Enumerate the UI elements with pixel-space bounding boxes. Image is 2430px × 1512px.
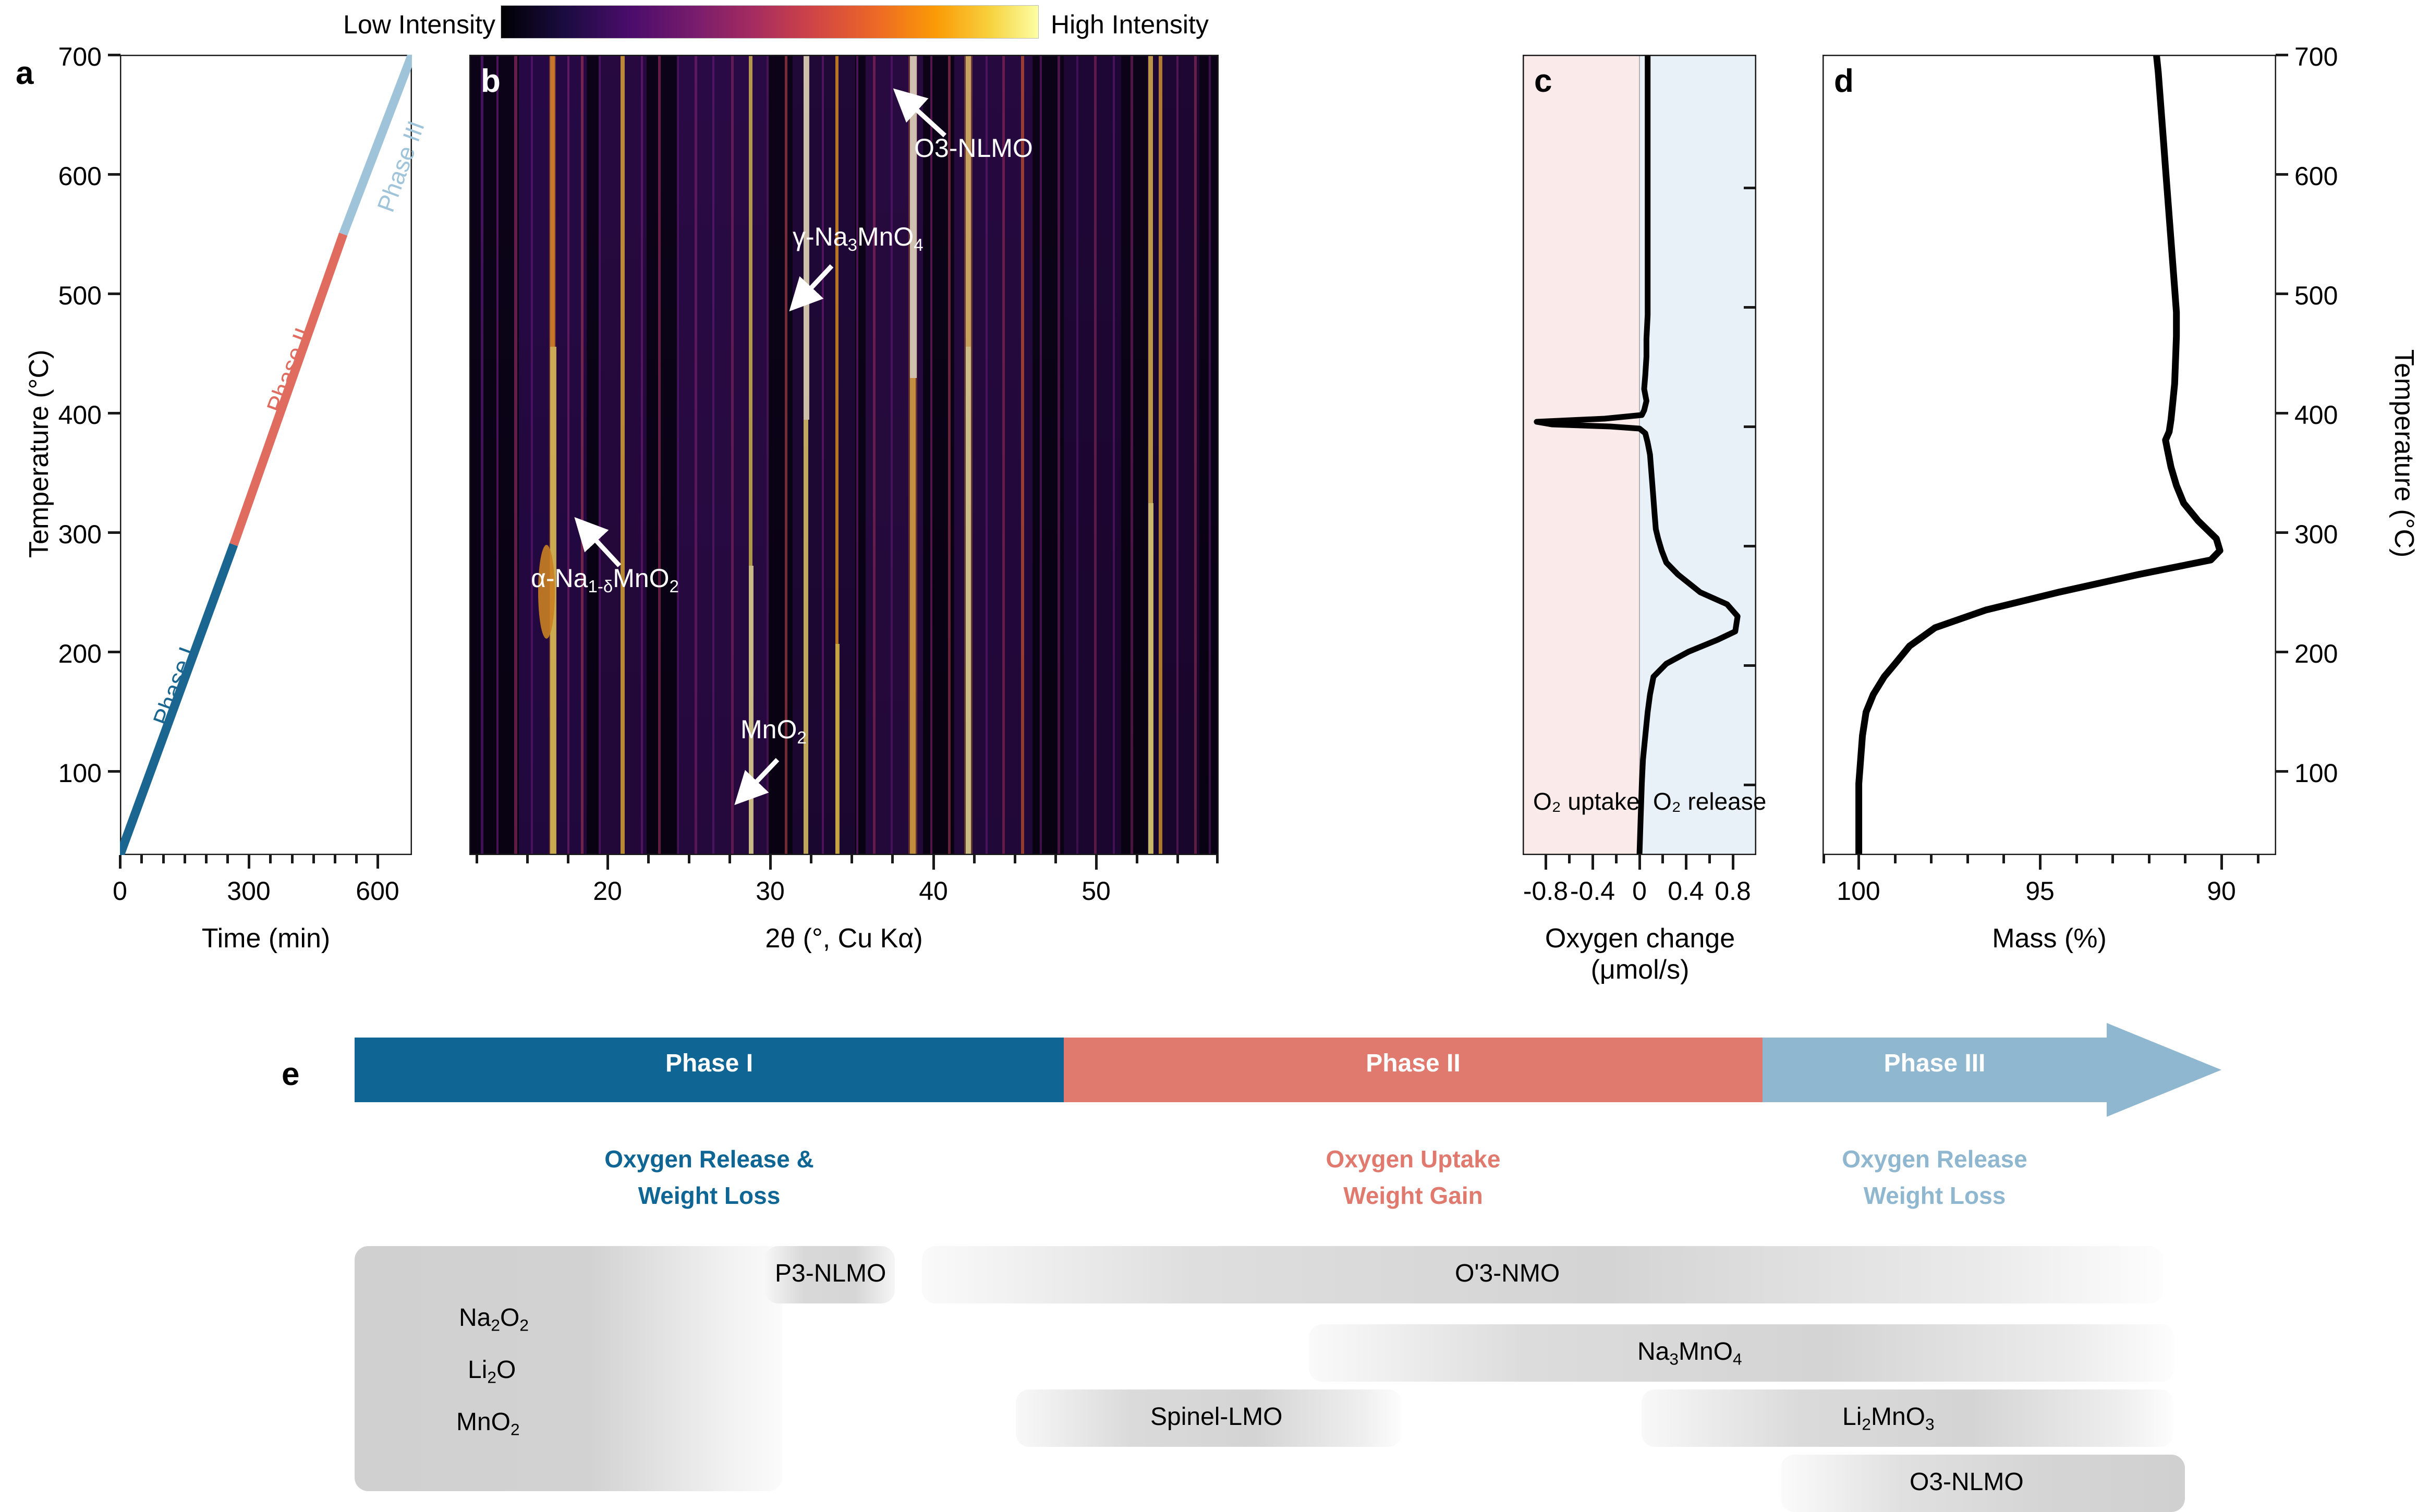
- panel-b-arrow-alpha-nadmno2: [568, 514, 631, 571]
- ytick-label-700: 700: [31, 42, 102, 72]
- b-xtick-minor-h: [850, 855, 853, 863]
- d-ytick-600: [2276, 173, 2288, 176]
- panel-d: d 100 95 90 Mass (%) 700 600 500 400 300…: [1822, 42, 2430, 980]
- panel-b-arrow-mno2: [727, 753, 790, 811]
- b-xtick-minor-n: [1176, 855, 1179, 863]
- compound-label-na2o2: Na2O2: [459, 1303, 529, 1335]
- d-xtick-minor-2: [1930, 855, 1933, 863]
- d-ytick-500: [2276, 292, 2288, 295]
- c-xtick-label-08: 0.8: [1694, 876, 1772, 906]
- b-xtick-minor-a: [476, 855, 478, 863]
- compound-label-p3nlmo: P3-NLMO: [775, 1259, 886, 1288]
- d-xtick-95: [2039, 855, 2042, 870]
- d-ytick-label-300: 300: [2294, 519, 2373, 550]
- compound-label-li2mno3: Li2MnO3: [1842, 1403, 1935, 1434]
- b-xtick-50: [1095, 855, 1098, 870]
- b-xtick-minor-f: [728, 855, 731, 863]
- ytick-700: [108, 54, 120, 56]
- d-xtick-label-100: 100: [1819, 876, 1898, 906]
- xtick-minor-10: [355, 855, 358, 863]
- compound-label-o3nmo: O'3-NMO: [1455, 1259, 1560, 1288]
- b-xtick-label-40: 40: [894, 876, 973, 906]
- ytick-300: [108, 531, 120, 534]
- panel-d-right-ylabel: Temperature (°C): [2388, 292, 2420, 615]
- phase-desc-iii-line1: Oxygen Release: [1763, 1144, 2107, 1175]
- panel-b: b O3-NLMO γ-Na3MnO4 α-Na1-δMnO2 MnO2: [469, 42, 1252, 980]
- compound-label-o3nlmo: O3-NLMO: [1910, 1468, 2024, 1496]
- d-ytick-200: [2276, 651, 2288, 653]
- d-xtick-minor-6: [2111, 855, 2114, 863]
- d-ytick-400: [2276, 412, 2288, 414]
- panel-d-letter: d: [1834, 65, 1854, 97]
- b-xtick-20: [606, 855, 609, 870]
- panel-b-letter: b: [481, 65, 501, 97]
- phase-label-iii: Phase III: [1763, 1049, 2107, 1078]
- colorbar-group: Low Intensity High Intensity: [501, 5, 1231, 47]
- panel-b-arrow-gamma-na3mno4: [782, 261, 845, 318]
- xtick-0: [119, 855, 121, 869]
- compound-label-mno2: MnO2: [456, 1408, 520, 1440]
- ytick-label-200: 200: [31, 639, 102, 669]
- b-xtick-minor-d: [647, 855, 650, 863]
- c-xtick-minor-c: [1661, 855, 1664, 863]
- xtick-minor-5: [226, 855, 229, 863]
- d-xtick-minor-1: [1894, 855, 1897, 863]
- d-ytick-label-200: 200: [2294, 639, 2373, 669]
- compound-label-li2o: Li2O: [468, 1356, 516, 1387]
- c-xtick-08: [1732, 855, 1734, 870]
- b-xtick-minor-c: [567, 855, 569, 863]
- panel-b-xlabel: 2θ (°, Cu Kα): [469, 923, 1219, 954]
- xtick-minor-8: [312, 855, 315, 863]
- d-xtick-minor-3: [1966, 855, 1969, 863]
- xtick-minor-2: [162, 855, 165, 863]
- d-xtick-minor-5: [2075, 855, 2078, 863]
- d-ytick-label-500: 500: [2294, 281, 2373, 311]
- panel-a-ylabel: Temperature (°C): [23, 292, 55, 615]
- panel-a-plot-area: [120, 55, 412, 855]
- d-ytick-700: [2276, 54, 2288, 56]
- d-xtick-minor-7: [2148, 855, 2150, 863]
- b-xtick-40: [932, 855, 935, 870]
- b-xtick-minor-i: [891, 855, 894, 863]
- panel-b-annotation-mno2: MnO2: [740, 714, 807, 748]
- panel-c: c O₂ uptake O₂ release -0.8 -0.4 0 0.4 0…: [1523, 42, 1794, 980]
- b-xtick-minor-m: [1136, 855, 1138, 863]
- panel-c-plot-area: [1523, 55, 1756, 855]
- b-xtick-minor-b: [526, 855, 529, 863]
- d-ytick-label-400: 400: [2294, 400, 2373, 430]
- c-ytick-r6: [1744, 784, 1756, 786]
- d-xtick-label-90: 90: [2182, 876, 2261, 906]
- panel-b-arrow-o3nlmo: [886, 83, 949, 141]
- xtick-label-300: 300: [210, 876, 288, 906]
- xtick-minor-7: [291, 855, 294, 863]
- panel-c-release-label: O₂ release: [1653, 787, 1766, 815]
- xtick-label-0: 0: [81, 876, 159, 906]
- d-xtick-100: [1857, 855, 1860, 870]
- ytick-200: [108, 651, 120, 653]
- phase-desc-ii-line2: Weight Gain: [1064, 1181, 1763, 1211]
- d-xtick-minor-0: [1822, 855, 1825, 863]
- d-ytick-100: [2276, 770, 2288, 773]
- b-xtick-minor-j: [973, 855, 976, 863]
- c-xtick-minor-d: [1708, 855, 1711, 863]
- d-xtick-90: [2220, 855, 2223, 870]
- b-xtick-minor-k: [1014, 855, 1016, 863]
- c-ytick-r5: [1744, 664, 1756, 667]
- colorbar-low-label: Low Intensity: [313, 9, 495, 40]
- c-xtick-minor-a: [1568, 855, 1571, 863]
- b-xtick-minor-l: [1054, 855, 1057, 863]
- panel-b-heatmap: [469, 55, 1219, 855]
- d-ytick-label-700: 700: [2294, 42, 2373, 72]
- c-xtick-04: [1685, 855, 1687, 870]
- c-ytick-r4: [1744, 545, 1756, 547]
- phase-desc-ii-line1: Oxygen Uptake: [1064, 1144, 1763, 1175]
- c-ytick-r1: [1744, 187, 1756, 189]
- d-xtick-label-95: 95: [2001, 876, 2079, 906]
- colorbar-high-label: High Intensity: [1051, 9, 1285, 40]
- ytick-label-100: 100: [31, 758, 102, 788]
- phase-desc-i-line2: Weight Loss: [355, 1181, 1064, 1211]
- panel-d-plot-area: [1822, 55, 2276, 855]
- panel-d-xlabel: Mass (%): [1822, 923, 2276, 954]
- colorbar-gradient: [501, 5, 1039, 39]
- c-xtick-n04: [1591, 855, 1594, 870]
- b-xtick-minor-o: [1216, 855, 1219, 863]
- c-ytick-r2: [1744, 306, 1756, 309]
- d-ytick-label-100: 100: [2294, 758, 2373, 788]
- panel-c-xlabel: Oxygen change (μmol/s): [1502, 923, 1778, 985]
- c-ytick-r3: [1744, 425, 1756, 428]
- compound-label-na3mno4: Na3MnO4: [1637, 1337, 1742, 1369]
- compound-label-spinellmo: Spinel-LMO: [1150, 1403, 1282, 1431]
- xtick-label-600: 600: [338, 876, 417, 906]
- d-xtick-minor-9: [2257, 855, 2259, 863]
- d-ytick-label-600: 600: [2294, 161, 2373, 191]
- xtick-minor-4: [205, 855, 208, 863]
- ytick-400: [108, 412, 120, 414]
- phase-label-i: Phase I: [355, 1049, 1064, 1078]
- b-xtick-minor-g: [810, 855, 812, 863]
- xtick-minor-6: [269, 855, 272, 863]
- ytick-500: [108, 292, 120, 295]
- xtick-300: [248, 855, 250, 869]
- c-xtick-minor-b: [1615, 855, 1618, 863]
- b-xtick-label-50: 50: [1057, 876, 1135, 906]
- d-xtick-minor-8: [2184, 855, 2186, 863]
- b-xtick-30: [769, 855, 772, 870]
- xtick-minor-9: [334, 855, 336, 863]
- d-xtick-minor-4: [2002, 855, 2005, 863]
- xtick-minor-1: [140, 855, 143, 863]
- xtick-600: [376, 855, 379, 869]
- compound-bar-precursor: [355, 1246, 782, 1491]
- c-xtick-0: [1638, 855, 1641, 870]
- ytick-100: [108, 770, 120, 773]
- b-xtick-label-30: 30: [731, 876, 809, 906]
- panel-e: e Phase I Phase II Phase III Oxygen Rele…: [0, 991, 2430, 1504]
- phase-desc-i-line1: Oxygen Release &: [355, 1144, 1064, 1175]
- ytick-label-600: 600: [31, 161, 102, 191]
- d-ytick-300: [2276, 531, 2288, 534]
- panel-e-letter: e: [282, 1058, 299, 1091]
- phase-desc-iii-line2: Weight Loss: [1763, 1181, 2107, 1211]
- panel-a: a Phase I Phase II Phase III 700 600 500…: [0, 42, 469, 980]
- xtick-minor-3: [184, 855, 186, 863]
- panel-a-xlabel: Time (min): [120, 923, 412, 954]
- c-xtick-n08: [1545, 855, 1547, 870]
- phase-label-ii: Phase II: [1064, 1049, 1763, 1078]
- b-xtick-minor-e: [688, 855, 690, 863]
- ytick-600: [108, 173, 120, 176]
- panel-c-uptake-label: O₂ uptake: [1533, 787, 1640, 815]
- panel-b-annotation-gamma-na3mno4: γ-Na3MnO4: [793, 222, 924, 255]
- panel-c-letter: c: [1534, 65, 1552, 97]
- b-xtick-label-20: 20: [568, 876, 647, 906]
